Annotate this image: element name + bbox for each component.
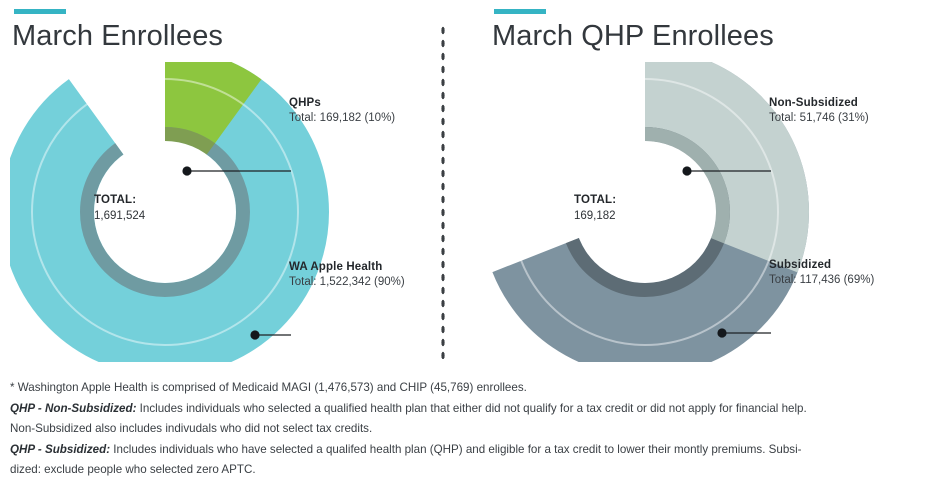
center-total-value-left: 1,691,524 (94, 208, 145, 224)
callout-non-subsidized-sub: Total: 51,746 (31%) (769, 111, 869, 126)
callout-non-subsidized[interactable]: Non-Subsidized Total: 51,746 (31%) (769, 96, 869, 126)
accent-bar-right (494, 9, 546, 14)
leader-dot-subsidized (717, 328, 726, 337)
center-total-left: TOTAL: 1,691,524 (94, 192, 145, 224)
panel-title-left: March Enrollees (12, 20, 223, 53)
leader-dot-qhps (182, 166, 191, 175)
callout-subsidized-title: Subsidized (769, 258, 874, 273)
footnote-line-4-text: Includes individuals who have selected a… (110, 443, 801, 456)
footnote-line-5: dized: exclude people who selected zero … (10, 460, 938, 481)
footnote-line-2-label: QHP - Non-Subsidized: (10, 402, 136, 415)
leader-dot-non-subsidized (682, 166, 691, 175)
footnote-line-2: QHP - Non-Subsidized: Includes individua… (10, 399, 938, 420)
callout-subsidized-sub: Total: 117,436 (69%) (769, 273, 874, 288)
panel-march-qhp-enrollees: March QHP Enrollees TOT (488, 0, 928, 370)
callout-wa-apple-health-sub: Total: 1,522,342 (90%) (289, 275, 405, 290)
accent-bar-left (14, 9, 66, 14)
footnote-line-3: Non-Subsidized also includes indivudals … (10, 419, 938, 440)
callout-subsidized[interactable]: Subsidized Total: 117,436 (69%) (769, 258, 874, 288)
footnote-line-2-text: Includes individuals who selected a qual… (136, 402, 806, 415)
center-total-label-right: TOTAL: (574, 192, 616, 208)
callout-qhps-sub: Total: 169,182 (10%) (289, 111, 395, 126)
leader-dot-wa-apple-health (250, 330, 259, 339)
footnote-line-1: * Washington Apple Health is comprised o… (10, 378, 938, 399)
vertical-dotted-divider (440, 24, 446, 359)
footnote-line-4: QHP - Subsidized: Includes individuals w… (10, 440, 938, 461)
callout-wa-apple-health-title: WA Apple Health (289, 260, 405, 275)
callout-qhps-title: QHPs (289, 96, 395, 111)
infographic-page: March Enrollees (0, 0, 948, 482)
center-total-label-left: TOTAL: (94, 192, 145, 208)
center-total-right: TOTAL: 169,182 (574, 192, 616, 224)
panel-march-enrollees: March Enrollees (8, 0, 448, 370)
callout-wa-apple-health[interactable]: WA Apple Health Total: 1,522,342 (90%) (289, 260, 405, 290)
callout-non-subsidized-title: Non-Subsidized (769, 96, 869, 111)
footnotes-block: * Washington Apple Health is comprised o… (10, 378, 938, 481)
footnote-line-4-label: QHP - Subsidized: (10, 443, 110, 456)
callout-qhps[interactable]: QHPs Total: 169,182 (10%) (289, 96, 395, 126)
center-total-value-right: 169,182 (574, 208, 616, 224)
panel-title-right: March QHP Enrollees (492, 20, 774, 53)
